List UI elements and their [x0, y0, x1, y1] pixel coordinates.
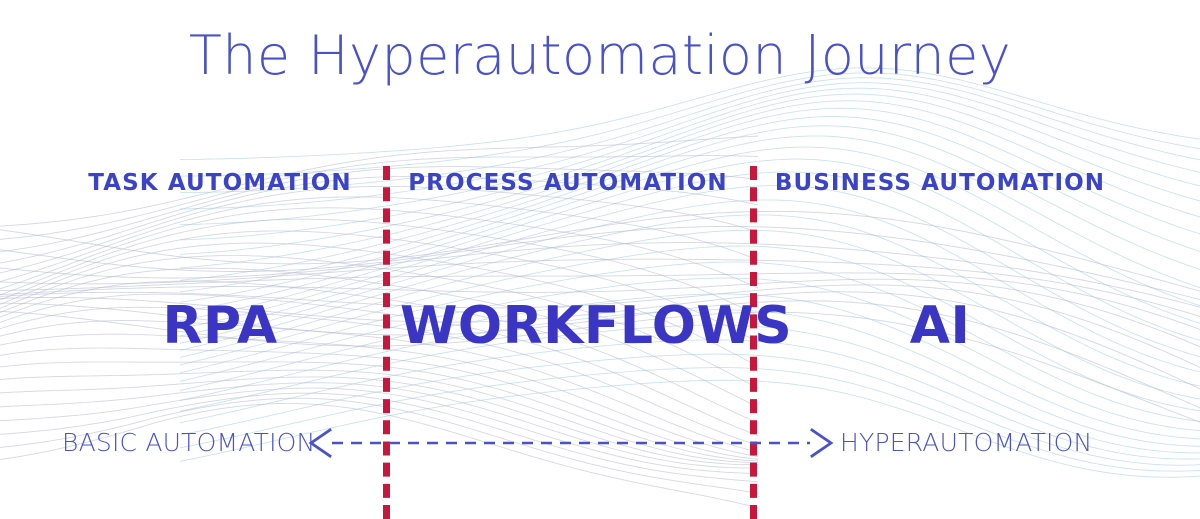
section-label-rpa: RPA	[70, 296, 370, 356]
double-headed-arrow-icon	[306, 425, 836, 461]
wave-line	[180, 94, 1200, 240]
axis-label-hyperautomation: HYPERAUTOMATION	[840, 425, 1092, 461]
page-title: The Hyperautomation Journey	[0, 24, 1200, 87]
divider-task-process	[383, 166, 390, 519]
section-header-task-automation: TASK AUTOMATION	[70, 170, 370, 196]
section-header-business-automation: BUSINESS AUTOMATION	[764, 170, 1116, 196]
section-header-process-automation: PROCESS AUTOMATION	[400, 170, 736, 196]
wave-line	[0, 211, 1200, 301]
wave-line	[0, 197, 758, 291]
maturity-axis: BASIC AUTOMATION HYPERAUTOMATION	[0, 425, 1200, 461]
section-label-ai: AI	[764, 296, 1116, 356]
hyperautomation-infographic: The Hyperautomation Journey TASK AUTOMAT…	[0, 0, 1200, 519]
arrowhead-right	[812, 430, 831, 456]
wave-line	[180, 136, 1200, 302]
wave-line	[180, 88, 1200, 225]
arrowhead-left	[311, 430, 330, 456]
wave-line	[180, 117, 1200, 281]
axis-label-basic-automation: BASIC AUTOMATION	[62, 425, 315, 461]
wave-line	[0, 208, 758, 301]
section-label-workflows: WORKFLOWS	[400, 296, 736, 356]
wave-line	[180, 126, 1200, 292]
wave-line	[0, 186, 758, 280]
wave-line	[0, 156, 758, 243]
wave-line	[180, 73, 1200, 176]
